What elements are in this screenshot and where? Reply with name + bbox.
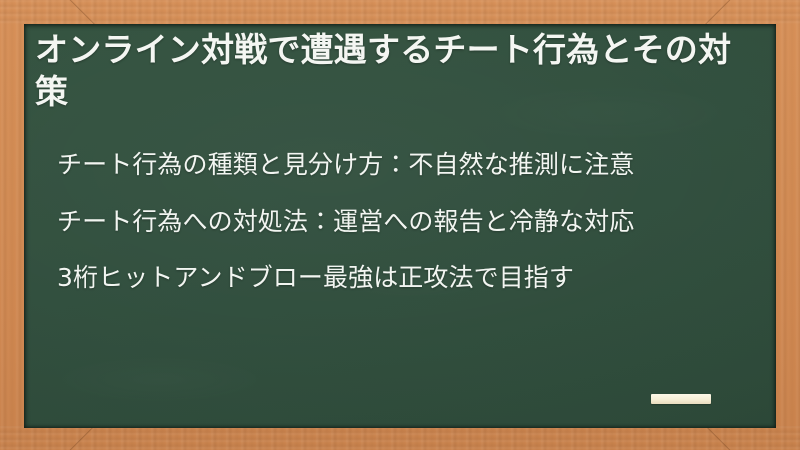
chalk-stick	[651, 394, 711, 404]
chalkboard-surface: オンライン対戦で遭遇するチート行為とその対策 チート行為の種類と見分け方：不自然…	[24, 24, 776, 428]
topic-list: チート行為の種類と見分け方：不自然な推測に注意 チート行為への対処法：運営への報…	[57, 147, 757, 297]
list-item: チート行為の種類と見分け方：不自然な推測に注意	[57, 147, 757, 184]
list-item: 3桁ヒットアンドブロー最強は正攻法で目指す	[57, 260, 757, 297]
chalkboard-wooden-frame: オンライン対戦で遭遇するチート行為とその対策 チート行為の種類と見分け方：不自然…	[0, 0, 800, 450]
page-title: オンライン対戦で遭遇するチート行為とその対策	[35, 29, 737, 113]
frame-bottom-rail-grain	[0, 426, 800, 450]
list-item: チート行為への対処法：運営への報告と冷静な対応	[57, 204, 757, 241]
frame-top-rail-grain	[0, 0, 800, 24]
